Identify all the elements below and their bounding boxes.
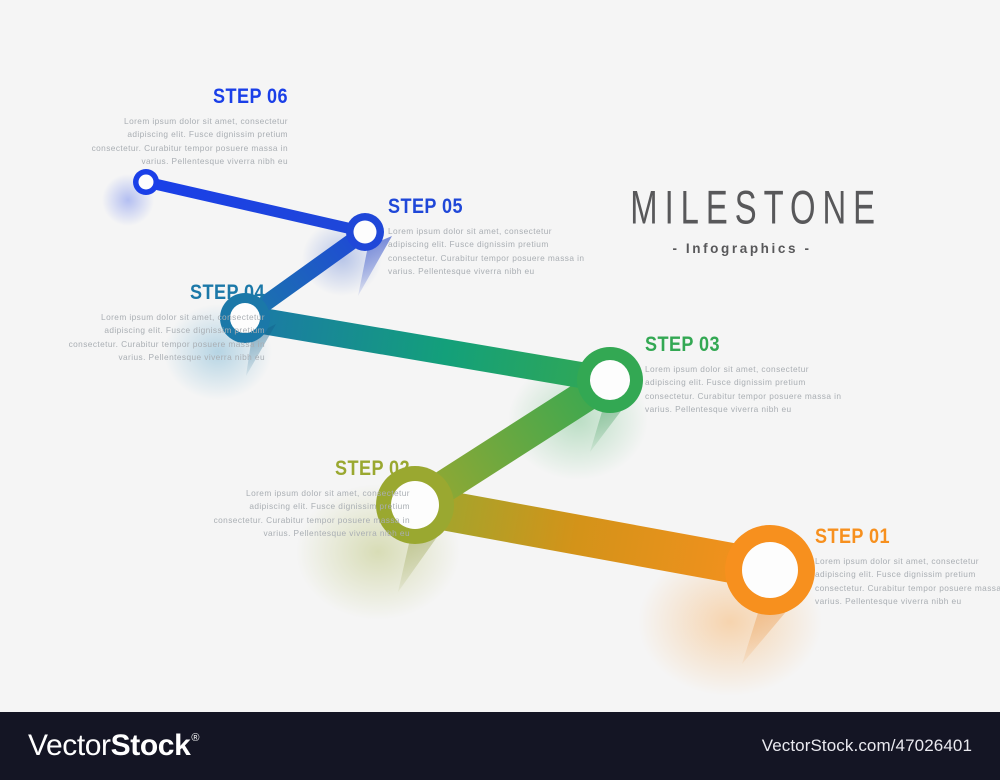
connector-step-04-step-03 [245, 318, 610, 380]
heading-title: MILESTONE [624, 184, 859, 231]
node-step-06[interactable] [133, 169, 159, 195]
node-step-05[interactable] [346, 213, 384, 251]
step-block-04: STEP 04 Lorem ipsum dolor sit amet, cons… [65, 282, 265, 365]
step-block-06: STEP 06 Lorem ipsum dolor sit amet, cons… [88, 86, 288, 169]
step-desc-03: Lorem ipsum dolor sit amet, consectetur … [645, 363, 845, 417]
vectorstock-logo: VectorStock® [28, 731, 199, 761]
step-title-04: STEP 04 [93, 282, 265, 304]
step-desc-05: Lorem ipsum dolor sit amet, consectetur … [388, 225, 588, 279]
step-desc-06: Lorem ipsum dolor sit amet, consectetur … [88, 115, 288, 169]
logo-text-vector: Vector [28, 731, 111, 761]
step-block-01: STEP 01 Lorem ipsum dolor sit amet, cons… [815, 526, 1000, 609]
connector-step-02-step-01 [415, 505, 770, 570]
logo-text-stock: Stock [111, 731, 191, 761]
registered-trademark-icon: ® [191, 733, 199, 744]
step-block-03: STEP 03 Lorem ipsum dolor sit amet, cons… [645, 334, 845, 417]
step-desc-01: Lorem ipsum dolor sit amet, consectetur … [815, 555, 1000, 609]
step-title-06: STEP 06 [116, 86, 288, 108]
step-block-02: STEP 02 Lorem ipsum dolor sit amet, cons… [210, 458, 410, 541]
vectorstock-url: VectorStock.com/47026401 [762, 736, 972, 756]
step-block-05: STEP 05 Lorem ipsum dolor sit amet, cons… [388, 196, 588, 279]
node-step-03[interactable] [577, 347, 643, 413]
step-title-03: STEP 03 [645, 334, 817, 356]
step-title-01: STEP 01 [815, 526, 987, 548]
connector-step-06-step-05 [146, 182, 365, 232]
step-desc-04: Lorem ipsum dolor sit amet, consectetur … [65, 311, 265, 365]
milestone-diagram: MILESTONE - Infographics - STEP 06 Lorem… [0, 0, 1000, 712]
step-title-05: STEP 05 [388, 196, 560, 218]
watermark-footer: VectorStock® VectorStock.com/47026401 [0, 712, 1000, 780]
infographic-canvas: MILESTONE - Infographics - STEP 06 Lorem… [0, 0, 1000, 780]
step-title-02: STEP 02 [238, 458, 410, 480]
infographic-heading: MILESTONE - Infographics - [598, 188, 884, 256]
heading-subtitle: - Infographics - [598, 242, 884, 256]
step-desc-02: Lorem ipsum dolor sit amet, consectetur … [210, 487, 410, 541]
node-step-01[interactable] [725, 525, 815, 615]
